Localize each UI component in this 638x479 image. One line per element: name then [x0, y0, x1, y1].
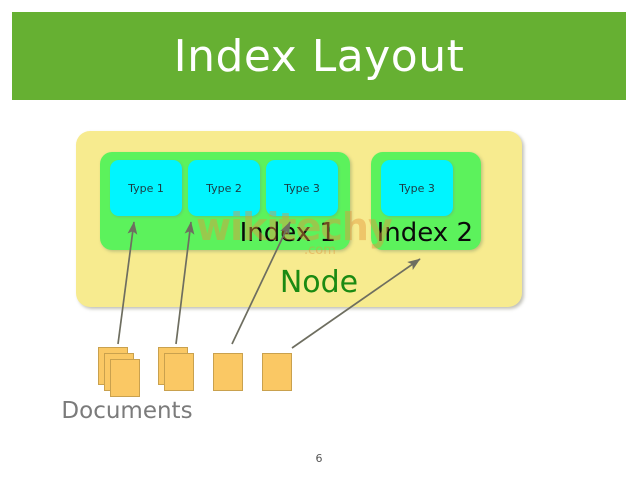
page-number: 6	[0, 452, 638, 465]
document-page	[164, 353, 194, 391]
document-page	[213, 353, 243, 391]
document-page	[262, 353, 292, 391]
documents-label: Documents	[0, 398, 446, 424]
documents-area: Documents	[0, 0, 638, 479]
document-page	[110, 359, 140, 397]
